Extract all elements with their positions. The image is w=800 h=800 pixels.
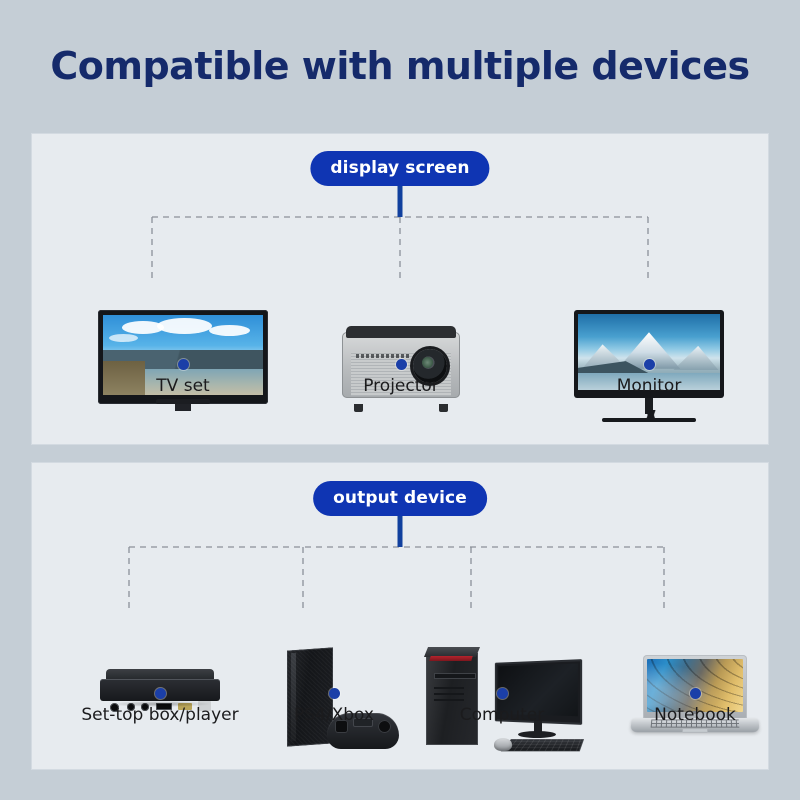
display-screen-panel: display screen TV set	[31, 133, 769, 445]
node-dot	[644, 359, 655, 370]
node-dot	[396, 359, 407, 370]
badge-connector-stub	[398, 185, 403, 217]
node-label: Projector	[363, 376, 439, 396]
badge-connector-stub	[398, 515, 403, 547]
node-dot	[329, 688, 340, 699]
node-label: Monitor	[617, 376, 682, 396]
badge-display-screen[interactable]: display screen	[310, 151, 489, 186]
node-dot	[155, 688, 166, 699]
node-dot	[497, 688, 508, 699]
badge-output-device[interactable]: output device	[313, 481, 487, 516]
node-dot	[690, 688, 701, 699]
page-title: Compatible with multiple devices	[0, 44, 800, 88]
compatibility-infographic: Compatible with multiple devices display…	[0, 0, 800, 800]
node-label: TV set	[156, 376, 209, 396]
node-label: Computer	[460, 705, 545, 725]
node-label: Set-top box/player	[81, 705, 238, 725]
output-device-panel: output device Set-top box/player	[31, 462, 769, 770]
node-dot	[178, 359, 189, 370]
node-label: Notebook	[654, 705, 736, 725]
node-label: PS4/Xbox	[294, 705, 374, 725]
